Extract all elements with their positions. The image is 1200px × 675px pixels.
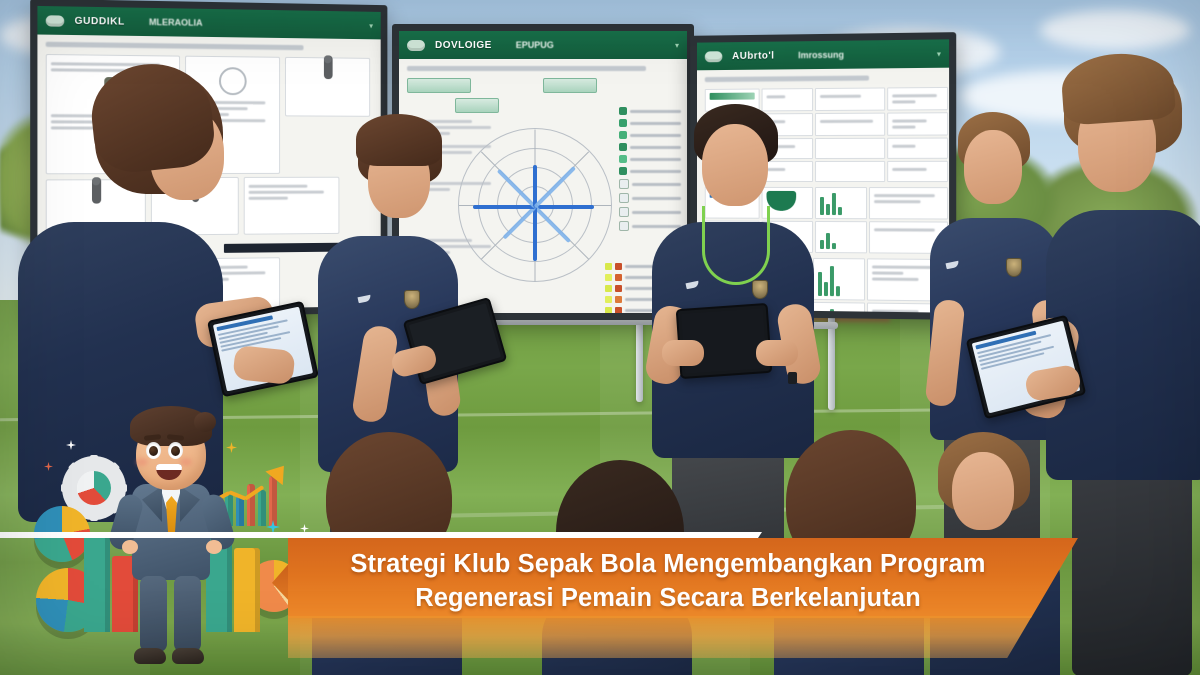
bar-chart-bar <box>84 536 110 632</box>
mascot-eye <box>168 442 183 459</box>
table-cell <box>869 187 948 219</box>
chevron-down-icon: ▾ <box>369 21 373 30</box>
filter-chip <box>455 98 499 113</box>
cloud <box>1040 10 1190 50</box>
board-caption <box>46 42 303 50</box>
banner-title: Strategi Klub Sepak Bola Mengembangkan P… <box>288 548 1048 616</box>
board-card <box>285 57 370 117</box>
board-caption <box>705 76 869 83</box>
table-cell <box>815 138 885 159</box>
board-logo-icon <box>407 40 425 51</box>
lanyard <box>702 206 770 285</box>
filter-chip <box>407 78 471 93</box>
table-cell <box>813 258 865 301</box>
filter-chip <box>543 78 597 93</box>
board-right-title: AUbrto'l <box>732 50 774 61</box>
table-cell <box>815 87 885 111</box>
pie-chart-icon <box>767 191 797 211</box>
chevron-down-icon: ▾ <box>675 41 679 50</box>
table-cell <box>815 161 885 182</box>
board-logo-icon <box>705 51 723 62</box>
table-cell <box>887 138 948 159</box>
table-cell <box>762 161 813 182</box>
board-left-subtitle: MLERAOLIA <box>149 17 203 28</box>
chevron-down-icon: ▾ <box>937 49 941 58</box>
table-cell <box>813 302 865 320</box>
board-caption <box>407 66 646 71</box>
player-figure-icon <box>91 177 100 203</box>
club-crest-icon <box>404 290 420 309</box>
board-center-title: DOVLOIGE <box>435 40 492 51</box>
board-right-header: AUbrto'l Imrossung ▾ <box>697 39 949 70</box>
bar-chart-bar <box>234 548 260 632</box>
table-cell <box>762 88 813 111</box>
table-cell <box>887 87 948 111</box>
board-logo-icon <box>46 15 65 26</box>
radar-legend-top <box>619 107 681 235</box>
mascot-eye <box>146 442 161 459</box>
club-crest-icon <box>1006 258 1022 277</box>
mascot-hair <box>130 406 212 446</box>
table-cell <box>815 187 867 219</box>
table-cell <box>815 113 885 136</box>
board-center-header: DOVLOIGE EPUPUG ▾ <box>399 31 687 59</box>
board-left-title: GUDDIKL <box>75 15 125 27</box>
board-center-subtitle: EPUPUG <box>516 40 554 50</box>
board-right-subtitle: Imrossung <box>798 50 844 61</box>
board-card <box>244 177 340 235</box>
table-cell <box>887 112 948 136</box>
table-cell <box>815 221 867 253</box>
player-figure-icon <box>323 55 332 79</box>
table-cell <box>887 161 948 182</box>
wristwatch <box>788 372 797 384</box>
radar-chart <box>451 121 619 289</box>
banner-top-rule <box>0 532 762 538</box>
banner-title-line2: Regenerasi Pemain Secara Berkelanjutan <box>288 582 1048 616</box>
club-crest-icon <box>752 280 768 299</box>
infographic-banner-image: GUDDIKL MLERAOLIA ▾ <box>0 0 1200 675</box>
banner-title-line1: Strategi Klub Sepak Bola Mengembangkan P… <box>288 548 1048 582</box>
